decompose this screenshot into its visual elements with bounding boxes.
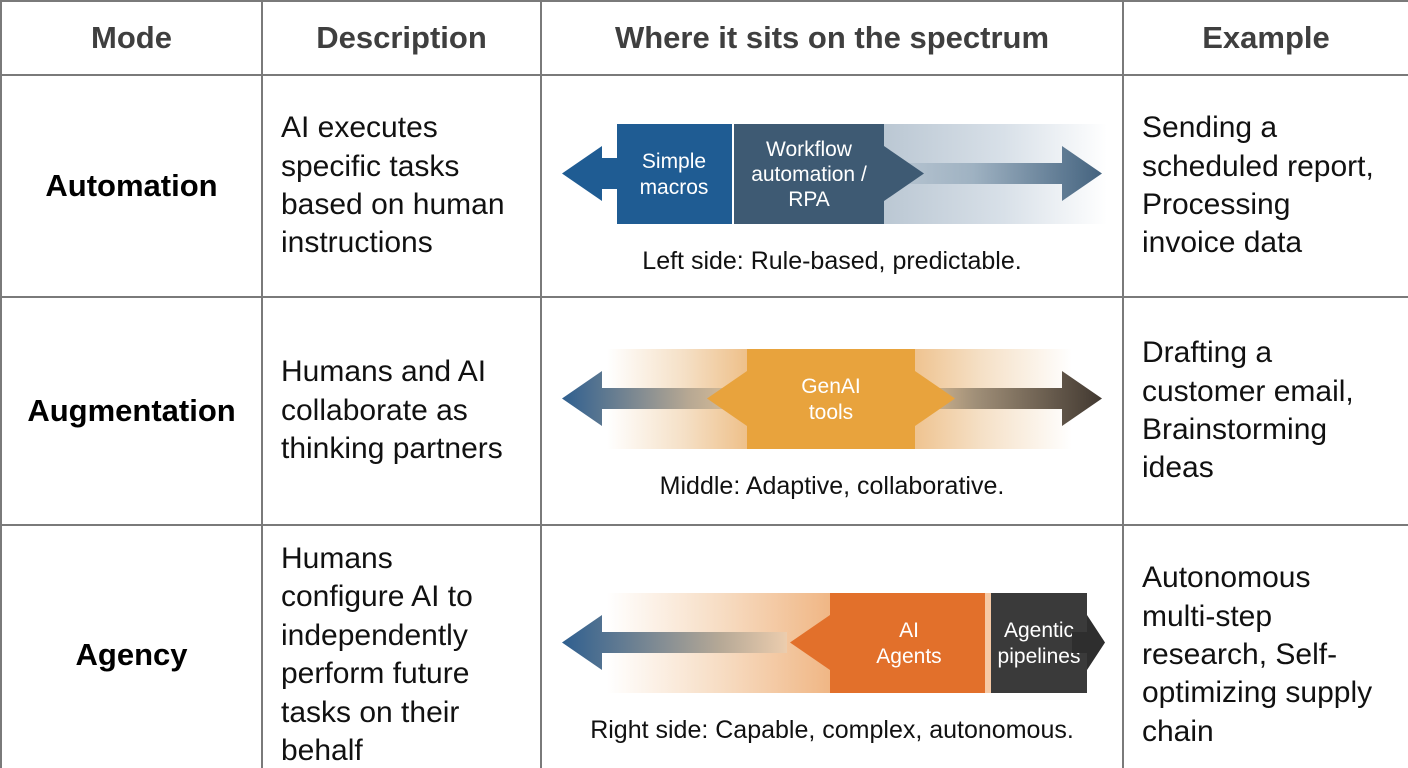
table-header-row: Mode Description Where it sits on the sp… xyxy=(1,1,1408,75)
spectrum-graphic-row3: AI Agents Agentic pipelines xyxy=(557,575,1107,710)
mode-label-automation: Automation xyxy=(1,75,262,297)
box-label-line1: Simple xyxy=(642,150,706,173)
box-label-line2: tools xyxy=(809,401,853,424)
column-header-example: Example xyxy=(1123,1,1408,75)
spectrum-caption-augmentation: Middle: Adaptive, collaborative. xyxy=(556,472,1108,501)
spectrum-caption-agency: Right side: Capable, complex, autonomous… xyxy=(556,716,1108,745)
box-separator xyxy=(985,593,991,693)
arrow-left-row1 xyxy=(562,146,619,201)
spectrum-caption-automation: Left side: Rule-based, predictable. xyxy=(556,247,1108,276)
description-automation: AI executes specific tasks based on huma… xyxy=(262,75,541,297)
spectrum-diagram-agency: AI Agents Agentic pipelines Right side: … xyxy=(541,525,1123,768)
box-label-line1: GenAI xyxy=(801,375,861,398)
box-label-line1: AI xyxy=(899,619,919,642)
spectrum-box-simple-macros xyxy=(617,124,732,224)
mode-label-augmentation: Augmentation xyxy=(1,297,262,525)
spectrum-box-ai-agents xyxy=(830,593,985,693)
spectrum-diagram-augmentation: GenAI tools Middle: Adaptive, collaborat… xyxy=(541,297,1123,525)
column-header-spectrum: Where it sits on the spectrum xyxy=(541,1,1123,75)
spectrum-comparison-table: Mode Description Where it sits on the sp… xyxy=(0,0,1408,768)
box-label-line2: macros xyxy=(640,176,709,199)
box-label-line2: Agents xyxy=(876,645,941,668)
spectrum-graphic-row1: Simple macros Workflow automation / RPA xyxy=(557,106,1107,241)
box-label-line1: Agentic xyxy=(1004,619,1074,642)
description-augmentation: Humans and AI collaborate as thinking pa… xyxy=(262,297,541,525)
example-augmentation: Drafting a customer email, Brainstorming… xyxy=(1123,297,1408,525)
column-header-description: Description xyxy=(262,1,541,75)
table-row: Augmentation Humans and AI collaborate a… xyxy=(1,297,1408,525)
box-label-line1: Workflow xyxy=(766,138,853,161)
example-automation: Sending a scheduled report, Processing i… xyxy=(1123,75,1408,297)
example-agency: Autonomous multi-step research, Self-opt… xyxy=(1123,525,1408,768)
mode-label-agency: Agency xyxy=(1,525,262,768)
box-label-line3: RPA xyxy=(788,188,830,211)
spectrum-diagram-automation: Simple macros Workflow automation / RPA … xyxy=(541,75,1123,297)
box-label-line2: pipelines xyxy=(998,645,1081,668)
box-label-line2: automation / xyxy=(751,163,867,186)
spectrum-graphic-row2: GenAI tools xyxy=(557,331,1107,466)
table-row: Automation AI executes specific tasks ba… xyxy=(1,75,1408,297)
column-header-mode: Mode xyxy=(1,1,262,75)
description-agency: Humans configure AI to independently per… xyxy=(262,525,541,768)
table-row: Agency Humans configure AI to independen… xyxy=(1,525,1408,768)
spectrum-box-genai-tools xyxy=(747,349,915,449)
